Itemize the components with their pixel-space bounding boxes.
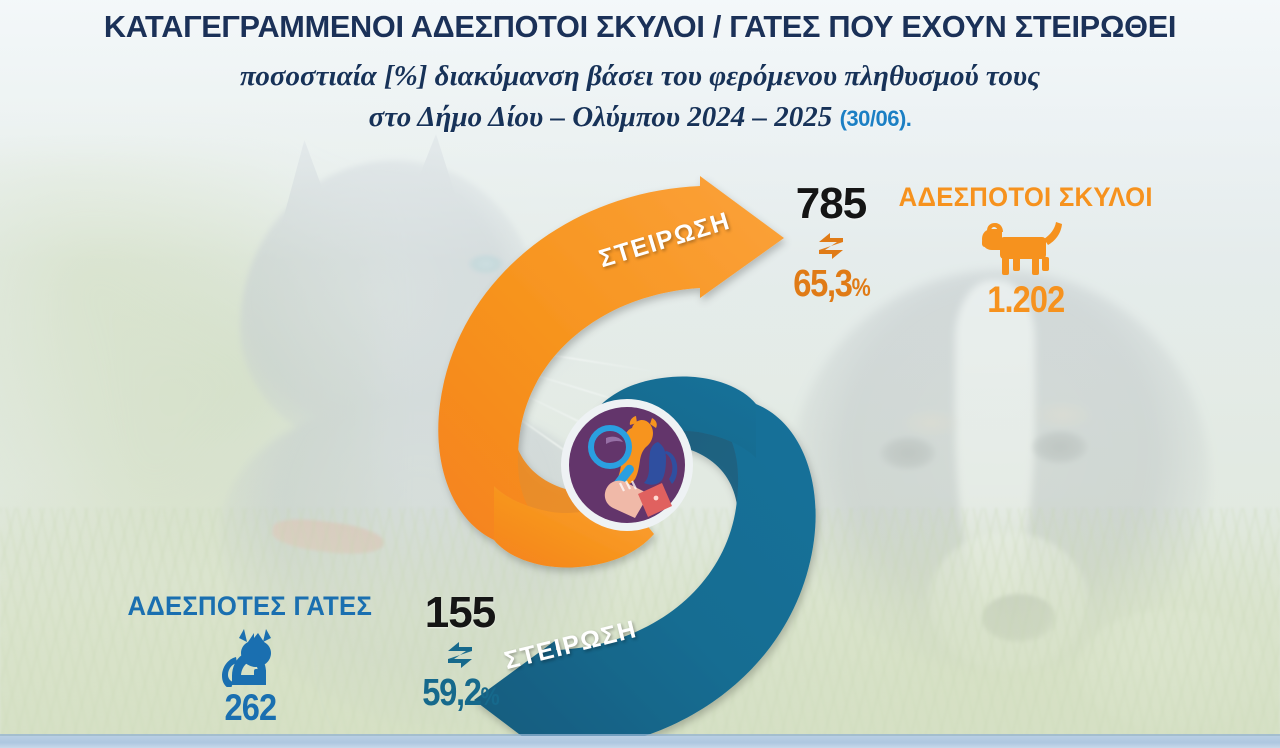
cat-percent-value: 59,2 xyxy=(422,672,480,714)
cat-total-block: ΑΔΕΣΠΟΤΕΣ ΓΑΤΕΣ 262 xyxy=(100,593,400,726)
variation-arrows-icon xyxy=(814,230,848,262)
variation-arrows-icon xyxy=(443,639,477,671)
dog-percent-value: 65,3 xyxy=(793,263,851,305)
cat-heading: ΑΔΕΣΠΟΤΕΣ ΓΑΤΕΣ xyxy=(128,593,373,620)
dog-icon xyxy=(980,217,1072,279)
cat-sterilized-count: 155 xyxy=(385,591,535,635)
cat-change-block: 155 59,2% xyxy=(385,591,535,712)
cat-percent-sign: % xyxy=(480,683,498,711)
dog-percent-sign: % xyxy=(851,274,869,302)
infographic-canvas: ΚΑΤΑΓΕΓΡΑΜΜΕΝΟΙ ΑΔΕΣΠΟΤΟΙ ΣΚΥΛΟΙ / ΓΑΤΕΣ… xyxy=(0,0,1280,748)
dog-total-count: 1.202 xyxy=(987,281,1064,318)
cat-total-count: 262 xyxy=(224,689,276,726)
cat-percent: 59,2% xyxy=(422,674,498,712)
footer-bar xyxy=(0,736,1280,748)
center-logo xyxy=(560,398,694,532)
dog-percent: 65,3% xyxy=(793,265,869,303)
dog-heading: ΑΔΕΣΠΟΤΟΙ ΣΚΥΛΟΙ xyxy=(899,184,1153,211)
dog-total-block: ΑΔΕΣΠΟΤΟΙ ΣΚΥΛΟΙ 1.202 xyxy=(876,184,1176,318)
cat-icon xyxy=(214,625,286,687)
